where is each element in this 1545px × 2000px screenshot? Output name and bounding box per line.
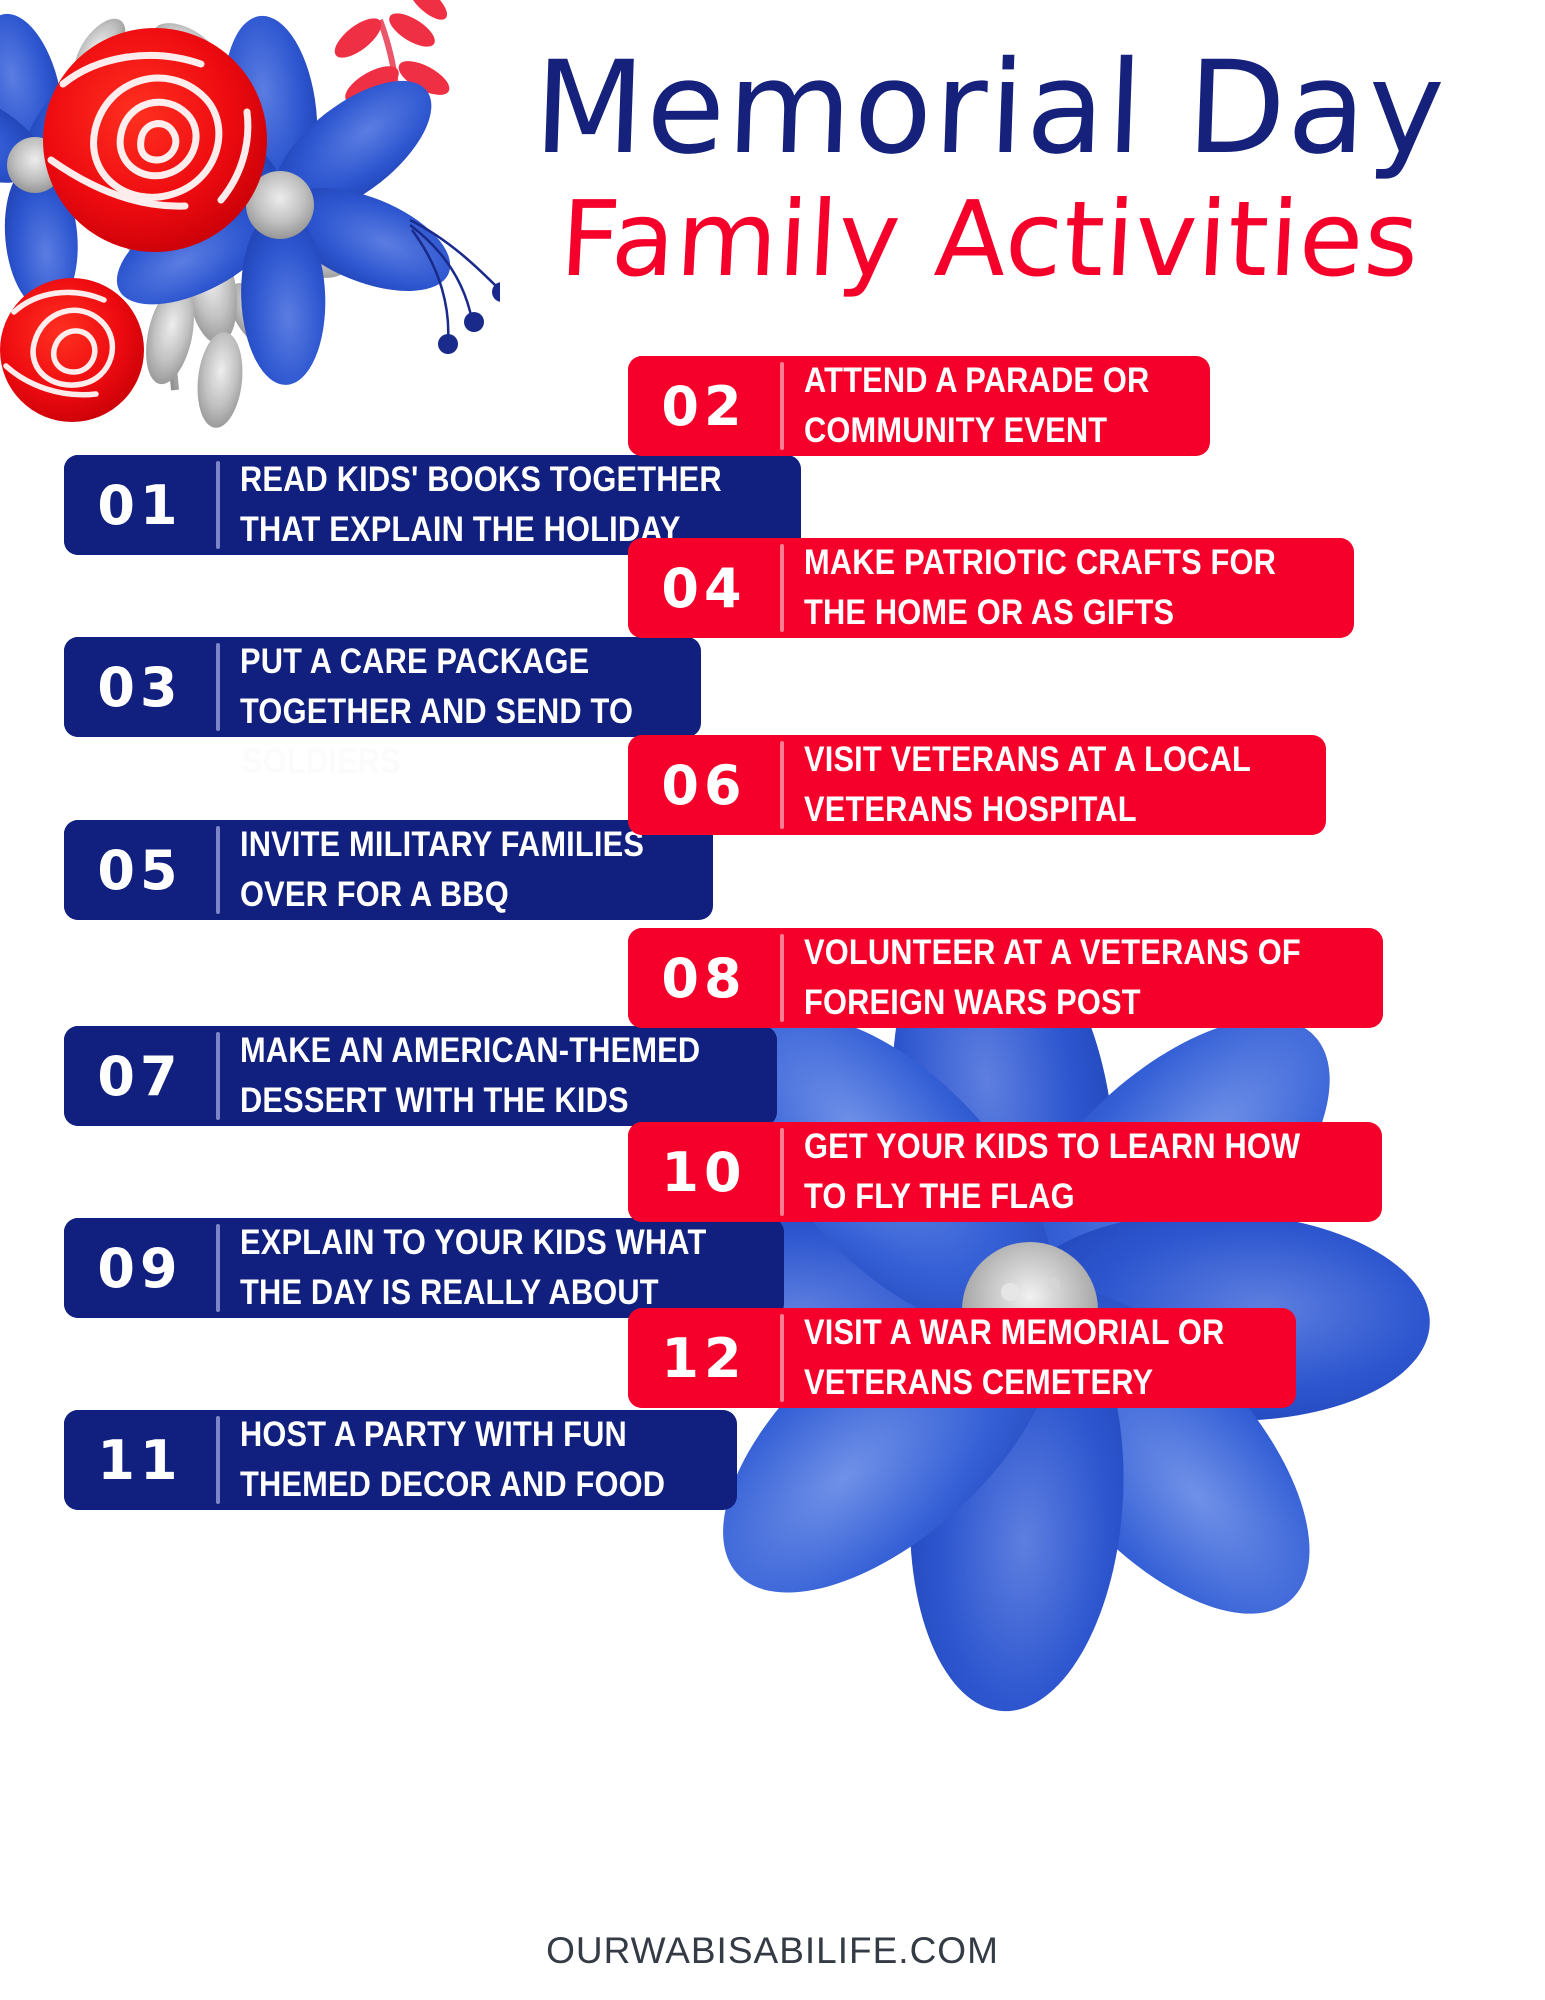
activity-number: 01: [64, 455, 216, 555]
activity-text-line-2: OVER FOR A BBQ: [240, 870, 644, 920]
activity-text-line-3: SOLDIERS: [242, 737, 401, 787]
activity-text: EXPLAIN TO YOUR KIDS WHATTHE DAY IS REAL…: [220, 1218, 784, 1318]
activity-text-line-1: VISIT VETERANS AT A LOCAL: [804, 735, 1251, 785]
activity-number: 03: [64, 637, 216, 737]
activity-item-08[interactable]: 08VOLUNTEER AT A VETERANS OFFOREIGN WARS…: [628, 928, 1168, 1028]
activity-number: 08: [628, 928, 780, 1028]
activity-text: HOST A PARTY WITH FUNTHEMED DECOR AND FO…: [220, 1410, 737, 1510]
activity-item-09[interactable]: 09EXPLAIN TO YOUR KIDS WHATTHE DAY IS RE…: [64, 1218, 589, 1318]
poster-canvas: Memorial Day Family Activities 01READ KI…: [0, 0, 1545, 2000]
activity-number: 10: [628, 1122, 780, 1222]
activity-number: 04: [628, 538, 780, 638]
activity-text-line-1: VISIT A WAR MEMORIAL OR: [804, 1308, 1224, 1358]
activity-text-line-2: VETERANS CEMETERY: [804, 1358, 1224, 1408]
footer-website[interactable]: OURWABISABILIFE.COM: [0, 1930, 1545, 1972]
activity-item-12[interactable]: 12VISIT A WAR MEMORIAL ORVETERANS CEMETE…: [628, 1308, 1168, 1408]
activity-text-line-1: ATTEND A PARADE OR: [804, 356, 1149, 406]
floral-cluster-svg: [0, 0, 500, 460]
activity-text-line-2: FOREIGN WARS POST: [804, 978, 1301, 1028]
activity-text: VISIT VETERANS AT A LOCALVETERANS HOSPIT…: [784, 735, 1326, 835]
activity-item-01[interactable]: 01READ KIDS' BOOKS TOGETHERTHAT EXPLAIN …: [64, 455, 589, 555]
poster-header: Memorial Day Family Activities: [470, 45, 1510, 335]
activity-text: PUT A CARE PACKAGETOGETHER AND SEND TOSO…: [220, 637, 701, 737]
red-rose-small: [0, 278, 144, 422]
berry-dot: [438, 334, 458, 354]
activity-text-line-1: GET YOUR KIDS TO LEARN HOW: [804, 1122, 1300, 1172]
activity-text-line-1: EXPLAIN TO YOUR KIDS WHAT: [240, 1218, 706, 1268]
activity-number: 09: [64, 1218, 216, 1318]
top-left-floral-decoration: [0, 0, 500, 460]
blue-flower-left: [0, 6, 185, 314]
red-rose-large: [43, 28, 267, 252]
silver-leaves: [6, 10, 358, 430]
red-glitter-sprig: [329, 0, 455, 150]
activity-text-line-2: DESSERT WITH THE KIDS: [240, 1076, 700, 1126]
activity-text: VOLUNTEER AT A VETERANS OFFOREIGN WARS P…: [784, 928, 1383, 1028]
activity-text: VISIT A WAR MEMORIAL ORVETERANS CEMETERY: [784, 1308, 1296, 1408]
activity-text-line-1: MAKE AN AMERICAN-THEMED: [240, 1026, 700, 1076]
activity-text: MAKE PATRIOTIC CRAFTS FORTHE HOME OR AS …: [784, 538, 1354, 638]
activity-item-03[interactable]: 03PUT A CARE PACKAGETOGETHER AND SEND TO…: [64, 637, 589, 737]
activity-number: 12: [628, 1308, 780, 1408]
activity-item-11[interactable]: 11HOST A PARTY WITH FUNTHEMED DECOR AND …: [64, 1410, 589, 1510]
activity-item-06[interactable]: 06VISIT VETERANS AT A LOCALVETERANS HOSP…: [628, 735, 1168, 835]
activity-text-line-1: HOST A PARTY WITH FUN: [240, 1410, 665, 1460]
activity-text-line-2: THEMED DECOR AND FOOD: [240, 1460, 665, 1510]
activity-item-04[interactable]: 04MAKE PATRIOTIC CRAFTS FORTHE HOME OR A…: [628, 538, 1168, 638]
activity-text: ATTEND A PARADE ORCOMMUNITY EVENT: [784, 356, 1210, 456]
activity-text-line-2: TO FLY THE FLAG: [804, 1172, 1300, 1222]
activity-item-10[interactable]: 10GET YOUR KIDS TO LEARN HOWTO FLY THE F…: [628, 1122, 1168, 1222]
activity-text-line-1: VOLUNTEER AT A VETERANS OF: [804, 928, 1301, 978]
activity-text-line-2: COMMUNITY EVENT: [804, 406, 1149, 456]
activity-text: GET YOUR KIDS TO LEARN HOWTO FLY THE FLA…: [784, 1122, 1382, 1222]
activity-text-line-2: VETERANS HOSPITAL: [804, 785, 1251, 835]
blue-flower-main: [97, 11, 465, 386]
activity-text-line-1: INVITE MILITARY FAMILIES: [240, 820, 644, 870]
activity-text: INVITE MILITARY FAMILIESOVER FOR A BBQ: [220, 820, 713, 920]
activity-item-07[interactable]: 07MAKE AN AMERICAN-THEMEDDESSERT WITH TH…: [64, 1026, 589, 1126]
activity-text-line-2: THE HOME OR AS GIFTS: [804, 588, 1276, 638]
activity-item-05[interactable]: 05INVITE MILITARY FAMILIESOVER FOR A BBQ: [64, 820, 589, 920]
activity-text: MAKE AN AMERICAN-THEMEDDESSERT WITH THE …: [220, 1026, 777, 1126]
activity-number: 07: [64, 1026, 216, 1126]
activity-text-line-1: PUT A CARE PACKAGE: [240, 637, 633, 687]
page-title: Memorial Day: [468, 45, 1512, 173]
activity-item-02[interactable]: 02ATTEND A PARADE ORCOMMUNITY EVENT: [628, 356, 1168, 456]
activity-number: 06: [628, 735, 780, 835]
activity-number: 02: [628, 356, 780, 456]
activity-text-line-1: READ KIDS' BOOKS TOGETHER: [240, 455, 722, 505]
activity-number: 05: [64, 820, 216, 920]
page-subtitle: Family Activities: [467, 187, 1512, 291]
activity-number: 11: [64, 1410, 216, 1510]
activity-text-line-1: MAKE PATRIOTIC CRAFTS FOR: [804, 538, 1276, 588]
activity-text-line-2: TOGETHER AND SEND TO: [240, 687, 633, 737]
